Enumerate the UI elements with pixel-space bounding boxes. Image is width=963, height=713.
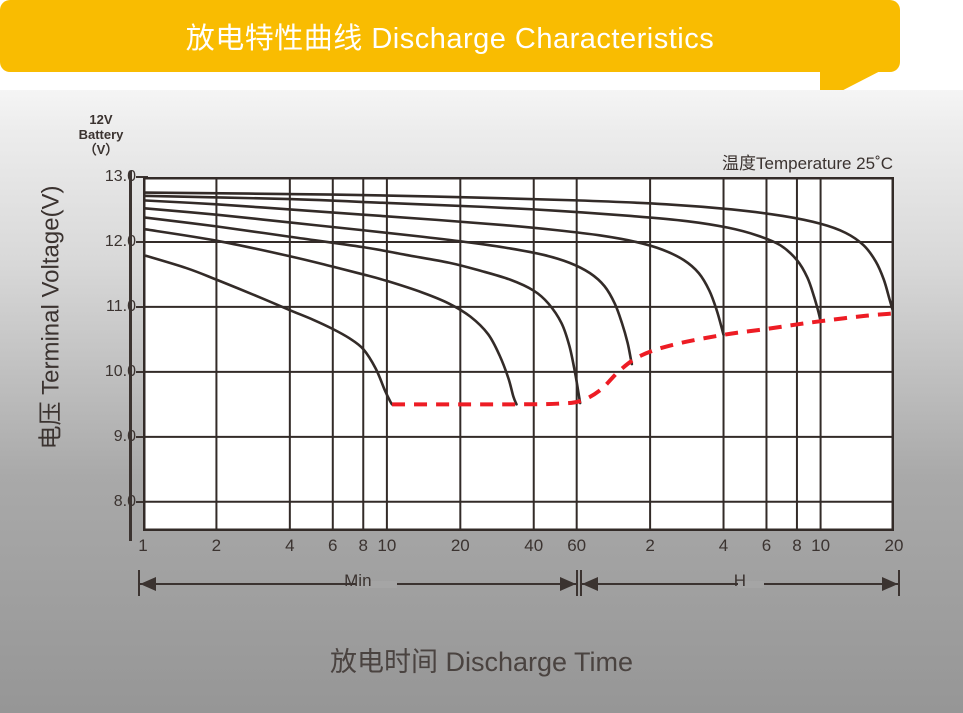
x-axis-tick-label: 20 [885, 536, 904, 556]
x-axis-title: 放电时间 Discharge Time [0, 640, 963, 679]
x-axis-tick-label: 2 [645, 536, 654, 556]
arrow-left-icon [582, 577, 598, 591]
y-axis-tick-labels: 13.012.011.010.09.08.0 [70, 0, 136, 713]
x-axis-tick-label: 10 [377, 536, 396, 556]
arrow-left-icon [140, 577, 156, 591]
y-axis-title: 电压 Terminal Voltage(V) [31, 178, 66, 458]
x-axis-tick-label: 4 [285, 536, 294, 556]
range-label: Min [339, 571, 376, 591]
x-axis-tick-label: 6 [328, 536, 337, 556]
range-end-right [576, 570, 578, 596]
x-axis-tick-label: 60 [567, 536, 586, 556]
x-axis-tick-label: 8 [792, 536, 801, 556]
x-axis-tick-label: 6 [762, 536, 771, 556]
x-axis-tick-label: 10 [811, 536, 830, 556]
header-banner: 放电特性曲线 Discharge Characteristics [0, 0, 963, 90]
y-axis-tick-label: 9.0 [114, 428, 136, 446]
range-bar-minutes: Min [138, 570, 578, 598]
y-axis-spine [129, 171, 132, 541]
x-axis-tick-label: 20 [451, 536, 470, 556]
x-axis-tick-label: 4 [719, 536, 728, 556]
arrow-right-icon [560, 577, 576, 591]
range-end-right [898, 570, 900, 596]
arrow-right-icon [882, 577, 898, 591]
x-axis-tick-label: 1 [138, 536, 147, 556]
range-bar-hours: H [580, 570, 900, 598]
plot-background [143, 177, 894, 531]
range-label: H [729, 571, 751, 591]
x-axis-tick-label: 8 [359, 536, 368, 556]
temperature-annotation: 温度Temperature 25˚C [722, 149, 893, 174]
x-axis-tick-label: 40 [524, 536, 543, 556]
plot-area [143, 177, 894, 531]
discharge-curves-svg [143, 177, 894, 531]
page-title: 放电特性曲线 Discharge Characteristics [186, 15, 714, 57]
x-axis-tick-label: 2 [212, 536, 221, 556]
y-axis-tick-label: 8.0 [114, 493, 136, 511]
